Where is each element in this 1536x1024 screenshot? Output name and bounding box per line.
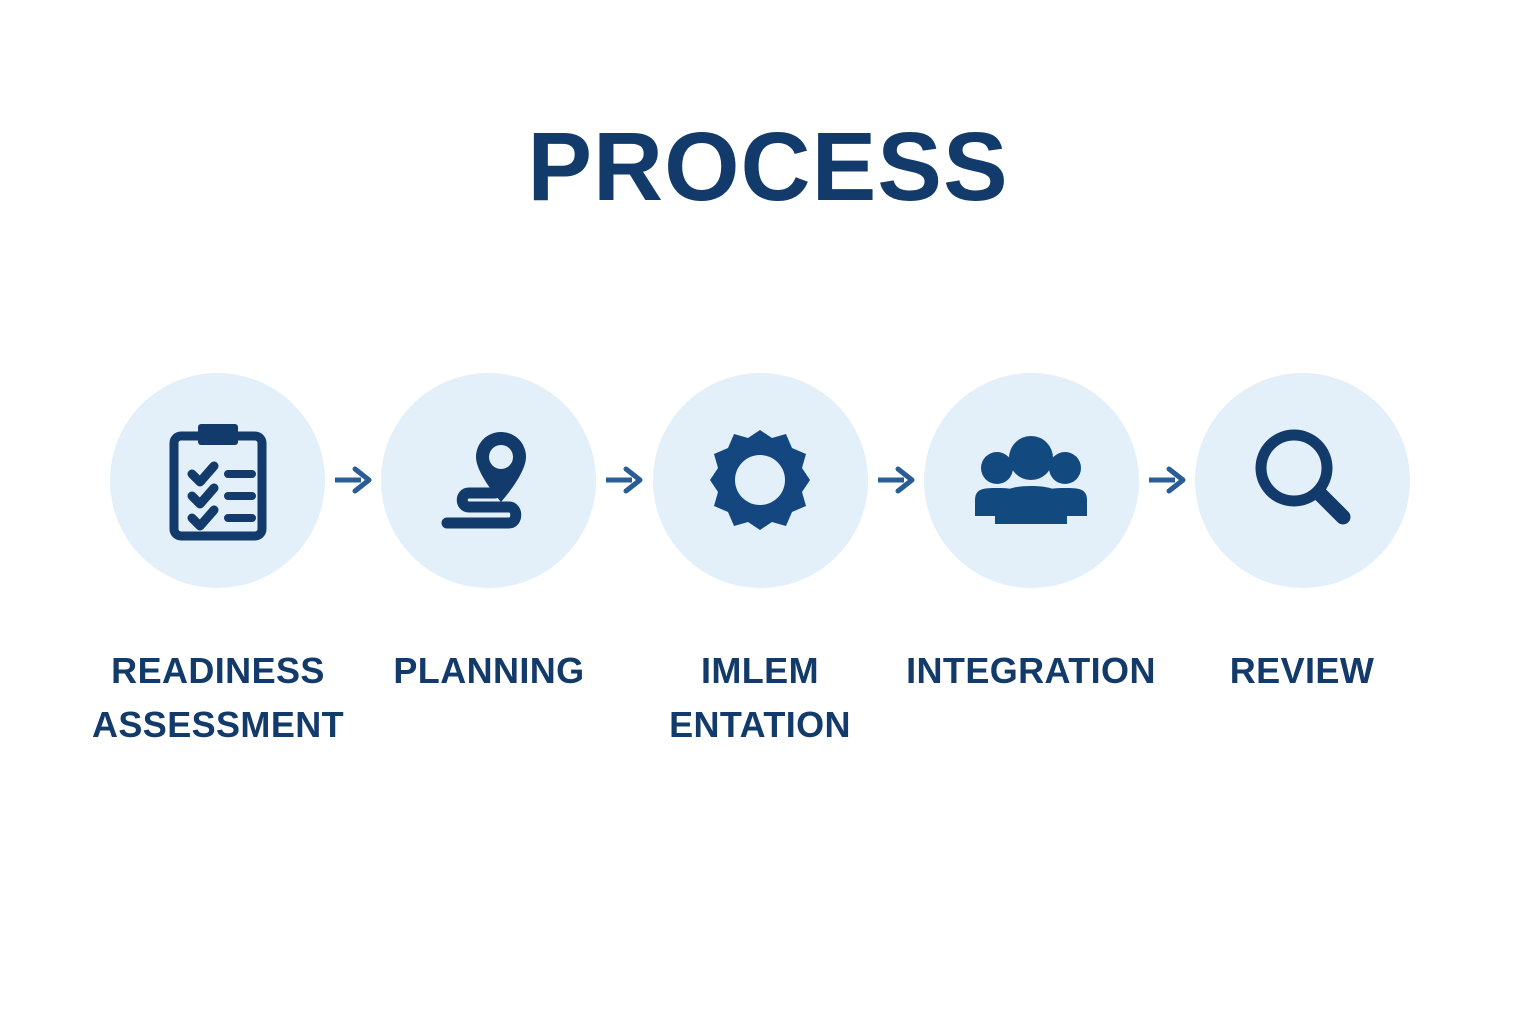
process-step-3[interactable] [653,373,868,588]
arrow-right-icon-2 [601,457,647,503]
page-title: PROCESS [0,118,1536,215]
step-label-3: IMLEM ENTATION [610,644,910,752]
process-step-5[interactable] [1195,373,1410,588]
step-label-5: REVIEW [1152,644,1452,698]
arrow-right-icon-1 [330,457,376,503]
step-circle-3 [653,373,868,588]
process-step-1[interactable] [110,373,325,588]
step-circle-4 [924,373,1139,588]
people-group-icon [967,416,1095,544]
step-label-4: INTEGRATION [881,644,1181,698]
gear-icon [696,416,824,544]
step-circle-2 [381,373,596,588]
process-diagram: PROCESS [0,0,1536,1024]
magnifying-glass-icon [1239,416,1367,544]
process-step-2[interactable] [381,373,596,588]
step-circle-1 [110,373,325,588]
process-label-row: READINESS ASSESSMENT PLANNING IMLEM ENTA… [110,644,1410,752]
step-label-1: READINESS ASSESSMENT [68,644,368,752]
arrow-right-icon-4 [1144,457,1190,503]
arrow-right-icon-3 [873,457,919,503]
step-label-2: PLANNING [339,644,639,698]
process-step-row [110,370,1410,590]
clipboard-checklist-icon [154,416,282,544]
route-map-pin-icon [425,416,553,544]
process-step-4[interactable] [924,373,1139,588]
step-circle-5 [1195,373,1410,588]
